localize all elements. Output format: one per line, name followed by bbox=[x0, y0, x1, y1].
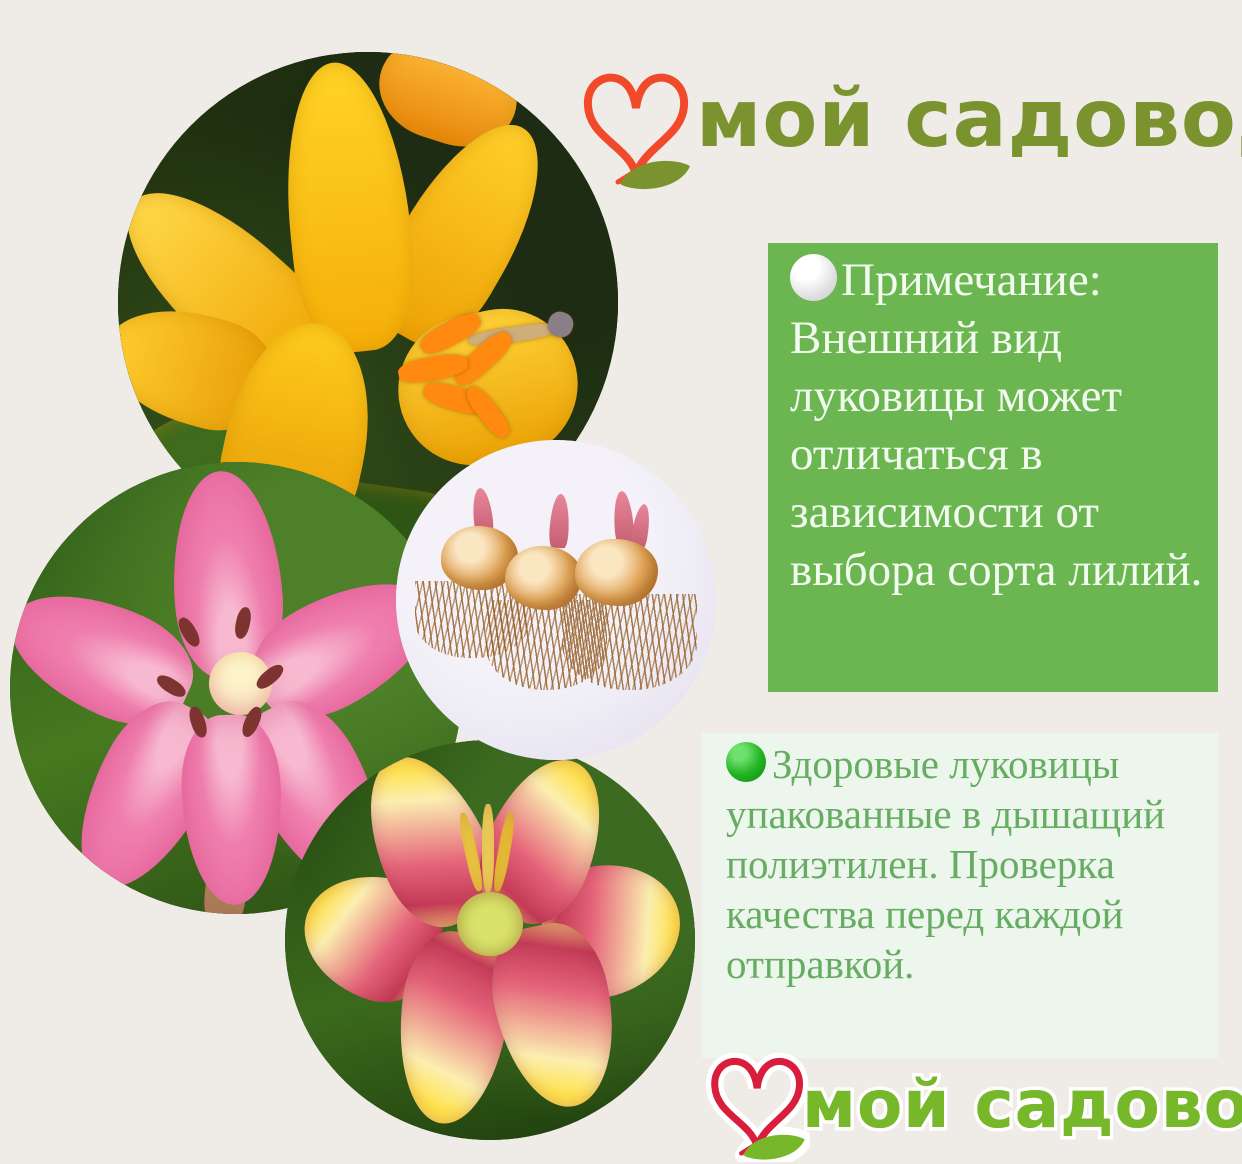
heart-leaf-icon-bottom bbox=[706, 1046, 810, 1162]
brand-wordmark-bottom: мой садовод bbox=[802, 1066, 1242, 1143]
brand-logo-top[interactable]: мой садовод bbox=[578, 58, 1224, 206]
packing-callout-text: Здоровые луковицы упакованные в дышащий … bbox=[726, 739, 1210, 989]
note-body: Внешний вид луковицы может отличаться в … bbox=[790, 312, 1202, 596]
lily-bulbs-artwork bbox=[396, 440, 716, 760]
brand-wordmark-top: мой садовод bbox=[696, 72, 1242, 165]
packing-body: Здоровые луковицы упакованные в дышащий … bbox=[726, 741, 1165, 987]
packing-callout-box: Здоровые луковицы упакованные в дышащий … bbox=[702, 733, 1218, 1058]
note-callout-text: Примечание: Внешний вид луковицы может о… bbox=[790, 251, 1208, 599]
heart-leaf-icon bbox=[578, 62, 696, 190]
photo-lily-bulbs bbox=[396, 440, 716, 760]
note-heading: Примечание: bbox=[841, 254, 1102, 306]
green-sphere-bullet-icon bbox=[726, 742, 766, 782]
brand-logo-bottom[interactable]: мой садовод мой садовод bbox=[706, 1044, 1218, 1162]
white-sphere-bullet-icon bbox=[790, 254, 837, 301]
note-callout-box: Примечание: Внешний вид луковицы может о… bbox=[768, 243, 1218, 692]
red-yellow-lily-artwork bbox=[285, 740, 695, 1140]
poster-canvas: мой садовод Примечание: Внешний вид луко… bbox=[0, 0, 1242, 1164]
photo-red-yellow-lily bbox=[285, 740, 695, 1140]
